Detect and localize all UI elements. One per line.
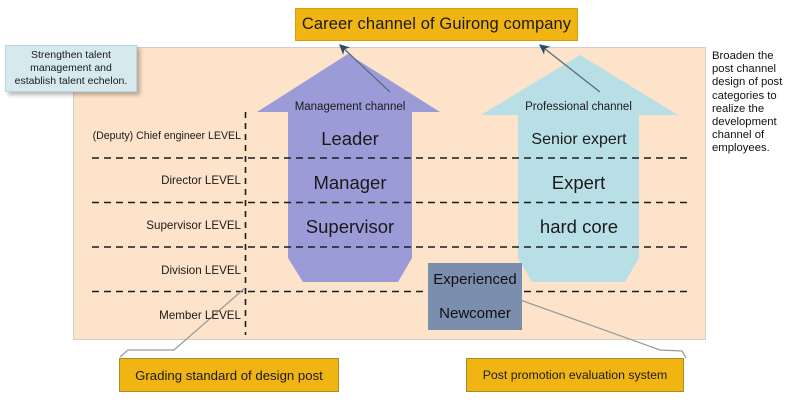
page-title: Career channel of Guirong company	[295, 8, 578, 41]
level-label-division: Division LEVEL	[75, 248, 245, 293]
professional-channel-header: Professional channel	[518, 101, 639, 113]
experience-row-experienced: Experienced	[428, 263, 522, 297]
level-label-column: (Deputy) Chief engineer LEVEL Director L…	[75, 113, 245, 338]
diagram-canvas: Career channel of Guirong company Streng…	[0, 0, 800, 404]
management-channel-header: Management channel	[288, 101, 412, 113]
callout-grading-standard: Grading standard of design post	[119, 358, 339, 392]
experience-row-newcomer: Newcomer	[428, 297, 522, 331]
professional-channel-arrow	[481, 55, 678, 282]
callout-broaden-post-channel: Broaden the post channel design of post …	[712, 50, 798, 156]
level-label-supervisor: Supervisor LEVEL	[75, 203, 245, 248]
level-label-chief-engineer: (Deputy) Chief engineer LEVEL	[75, 113, 245, 158]
level-label-member: Member LEVEL	[75, 293, 245, 338]
management-channel-arrow	[257, 54, 440, 282]
professional-rank-senior-expert: Senior expert	[510, 131, 648, 149]
callout-post-promotion: Post promotion evaluation system	[466, 358, 684, 392]
management-rank-manager: Manager	[288, 172, 412, 194]
experience-box: Experienced Newcomer	[428, 263, 522, 330]
management-rank-supervisor: Supervisor	[276, 216, 424, 238]
professional-rank-hard-core: hard core	[510, 216, 648, 238]
connector-post-promotion	[512, 297, 686, 358]
professional-rank-expert: Expert	[518, 172, 639, 194]
callout-strengthen-talent: Strengthen talent management and establi…	[5, 45, 137, 92]
level-label-director: Director LEVEL	[75, 158, 245, 203]
management-rank-leader: Leader	[288, 128, 412, 150]
